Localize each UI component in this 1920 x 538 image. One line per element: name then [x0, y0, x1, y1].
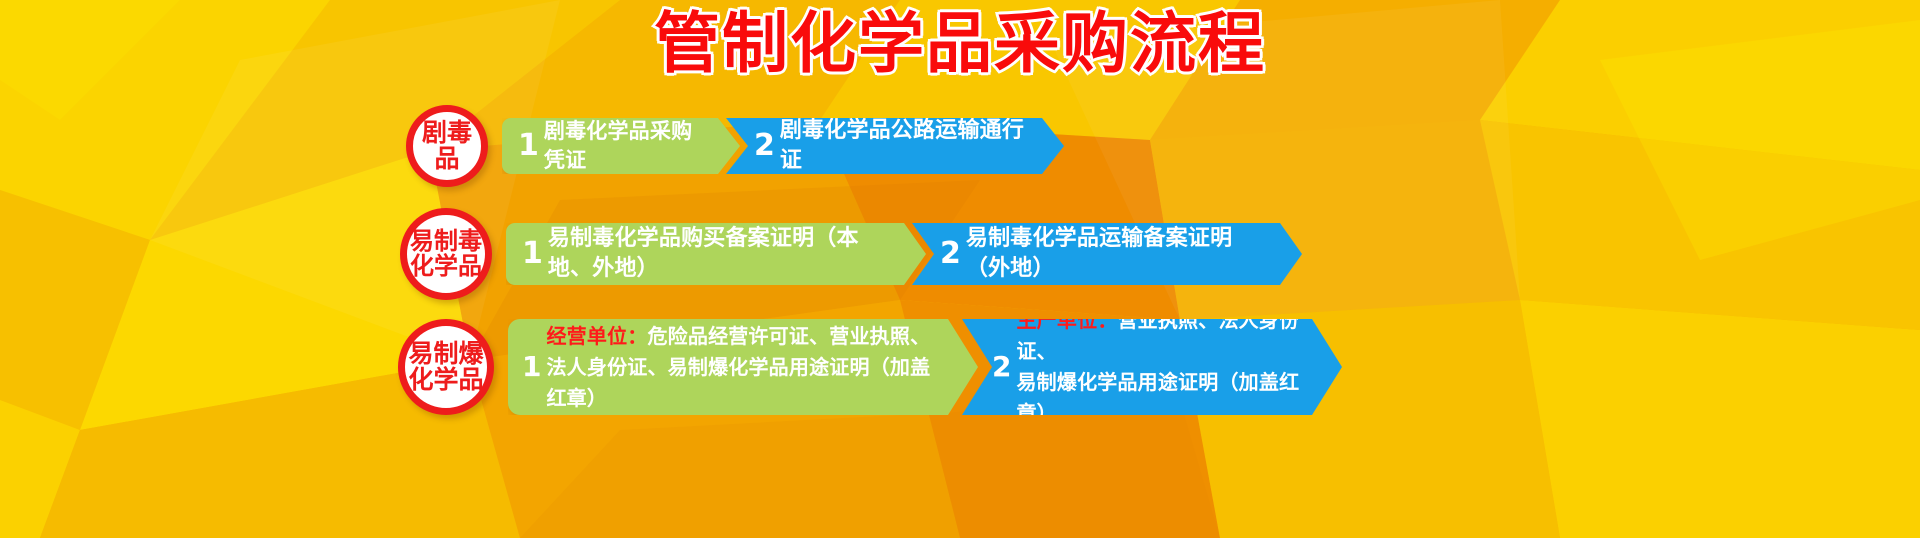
step-yizhibao-1[interactable]: 1 经营单位：危险品经营许可证、营业执照、 法人身份证、易制爆化学品用途证明（加… [508, 319, 978, 415]
steps-row-2: 1 经营单位：危险品经营许可证、营业执照、 法人身份证、易制爆化学品用途证明（加… [508, 319, 1342, 415]
step-tag: 生产单位： [1016, 308, 1117, 332]
step-text: 剧毒化学品采购凭证 [544, 117, 710, 175]
flow-row-jiduping: 剧毒品 1 剧毒化学品采购凭证 2 剧毒化学品公路运输通行证 [0, 104, 1920, 188]
badge-yizhibao: 易制爆 化学品 [398, 319, 494, 415]
step-number: 2 [754, 131, 775, 161]
step-yizhibao-2[interactable]: 2 生产单位：营业执照、法人身份证、 易制爆化学品用途证明（加盖红章） [962, 319, 1342, 415]
infographic-banner: 管制化学品采购流程 剧毒品 1 剧毒化学品采购凭证 2 剧毒化学品公路运输通行证… [0, 0, 1920, 538]
step-number: 2 [992, 353, 1011, 381]
step-number: 2 [940, 239, 961, 269]
steps-row-0: 1 剧毒化学品采购凭证 2 剧毒化学品公路运输通行证 [502, 118, 1064, 174]
step-text-block: 经营单位：危险品经营许可证、营业执照、 法人身份证、易制爆化学品用途证明（加盖红… [546, 321, 938, 414]
step-yizhidu-2[interactable]: 2 易制毒化学品运输备案证明（外地） [912, 223, 1302, 285]
flow-row-yizhidu: 易制毒 化学品 1 易制毒化学品购买备案证明（本地、外地） 2 易制毒化学品运输… [0, 212, 1920, 296]
step-number: 1 [518, 131, 539, 161]
step-text: 易制毒化学品购买备案证明（本地、外地） [548, 224, 892, 285]
step-tag: 经营单位： [546, 324, 647, 348]
page-title-wrapper: 管制化学品采购流程 [0, 6, 1920, 82]
step-text: 剧毒化学品公路运输通行证 [780, 116, 1034, 177]
step-text-block: 生产单位：营业执照、法人身份证、 易制爆化学品用途证明（加盖红章） [1016, 305, 1308, 429]
badge-label: 易制毒 化学品 [410, 229, 482, 279]
step-jiduping-2[interactable]: 2 剧毒化学品公路运输通行证 [726, 118, 1064, 174]
page-title: 管制化学品采购流程 [654, 6, 1266, 82]
steps-row-1: 1 易制毒化学品购买备案证明（本地、外地） 2 易制毒化学品运输备案证明（外地） [506, 223, 1302, 285]
step-number: 1 [522, 239, 543, 269]
badge-label: 易制爆 化学品 [408, 341, 483, 394]
step-yizhidu-1[interactable]: 1 易制毒化学品购买备案证明（本地、外地） [506, 223, 926, 285]
step-jiduping-1[interactable]: 1 剧毒化学品采购凭证 [502, 118, 740, 174]
badge-jiduping: 剧毒品 [406, 105, 488, 187]
step-text: 易制毒化学品运输备案证明（外地） [966, 224, 1270, 285]
badge-yizhidu: 易制毒 化学品 [400, 208, 492, 300]
badge-label: 剧毒品 [413, 120, 481, 173]
step-number: 1 [522, 353, 541, 381]
flow-row-yizhibao: 易制爆 化学品 1 经营单位：危险品经营许可证、营业执照、 法人身份证、易制爆化… [0, 312, 1920, 422]
